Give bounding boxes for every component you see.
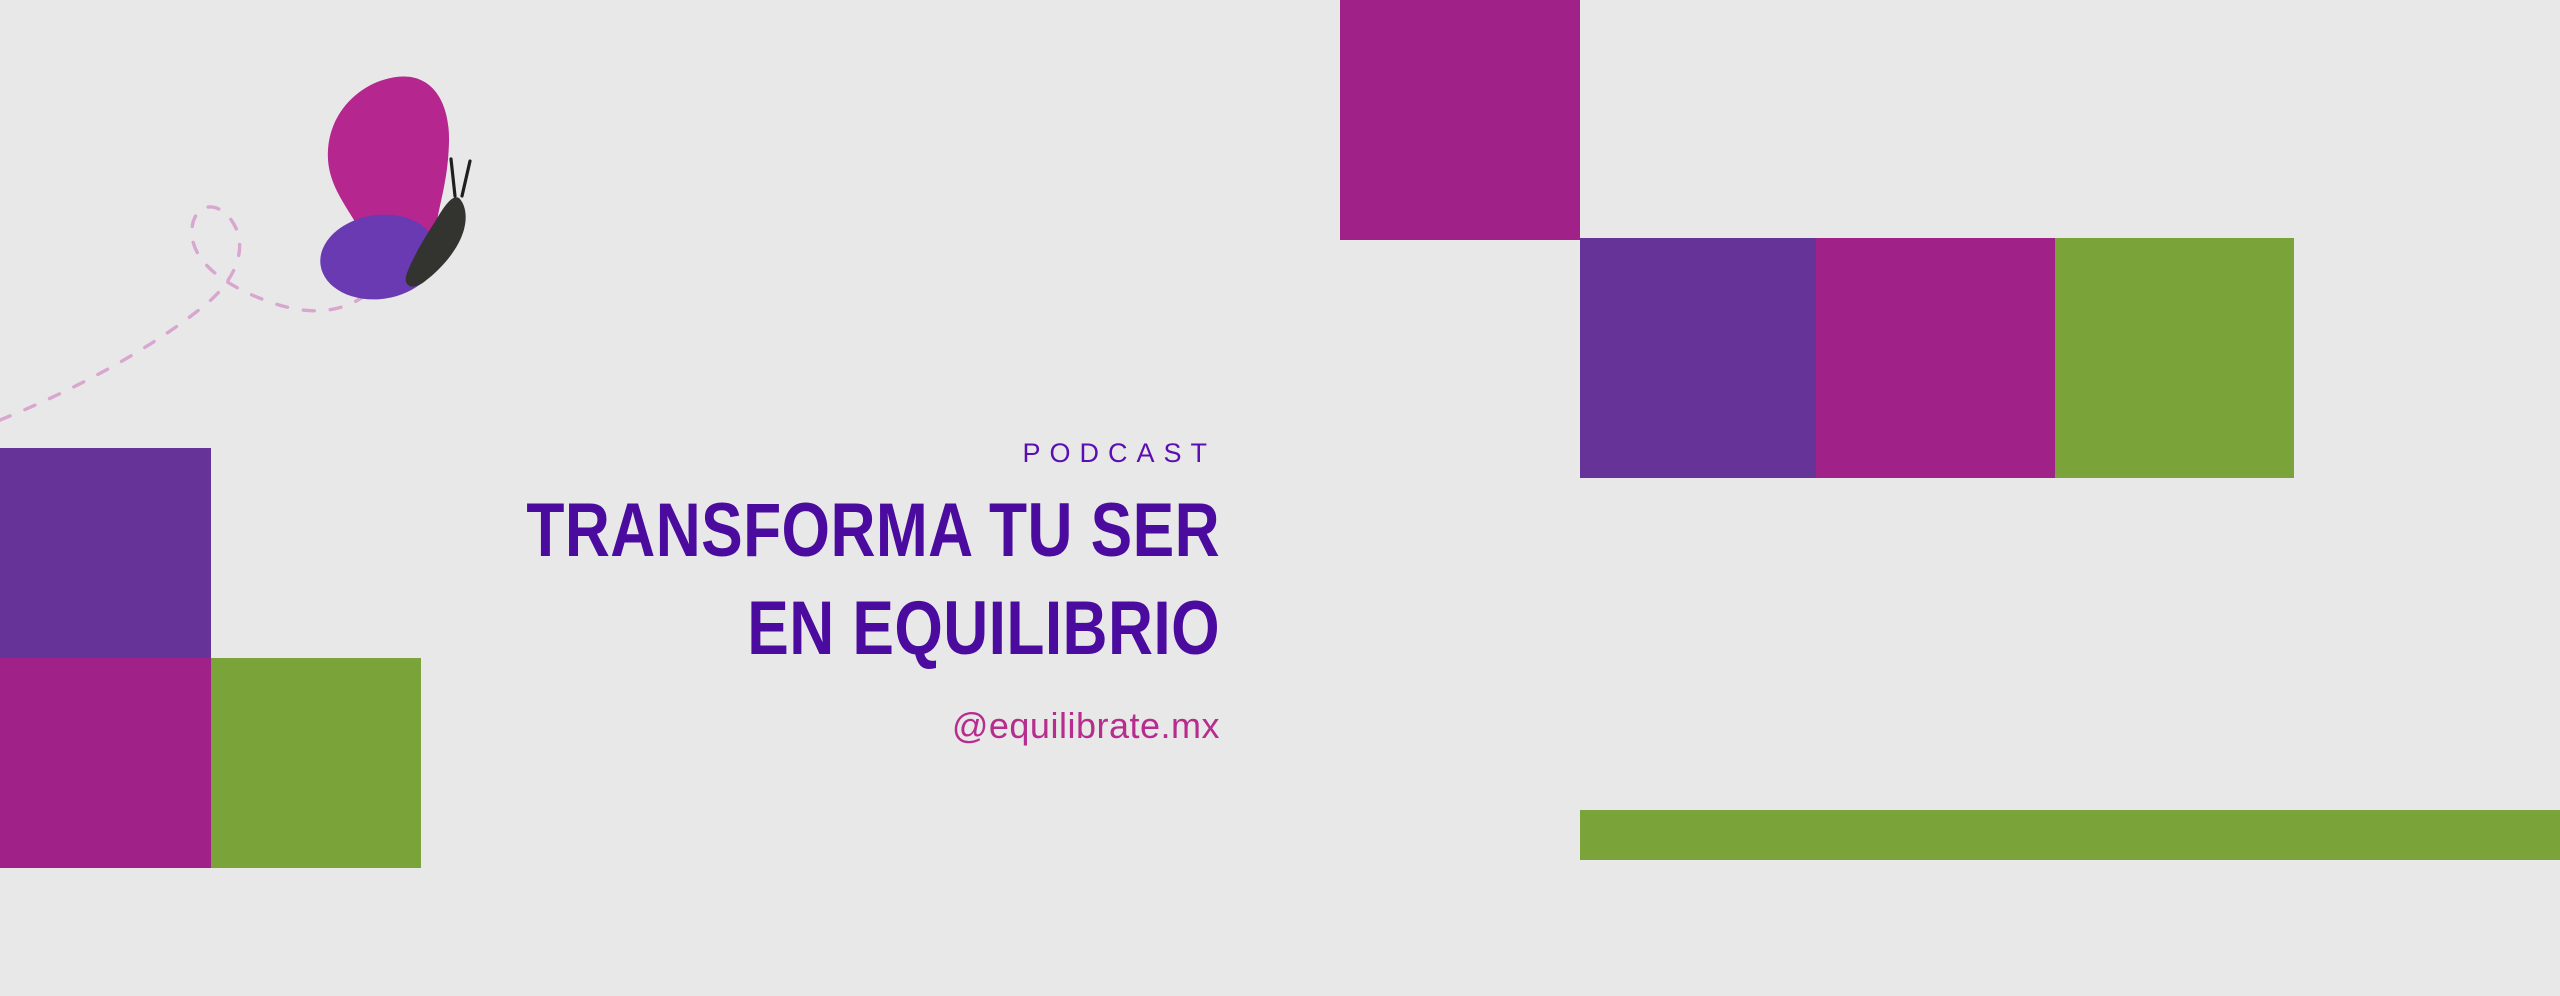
decor-block-row-green: [2055, 238, 2294, 478]
decor-block-top-magenta: [1340, 0, 1580, 240]
headline-line-1: TRANSFORMA TU SER: [490, 493, 1220, 569]
butterfly-logo: [0, 20, 520, 440]
decor-block-row-purple: [1580, 238, 1816, 478]
decor-block-row-magenta: [1816, 238, 2055, 478]
decor-block-left-magenta: [0, 658, 211, 868]
banner-text-column: PODCAST TRANSFORMA TU SER EN EQUILIBRIO …: [330, 440, 1220, 747]
page-title: TRANSFORMA TU SER EN EQUILIBRIO: [490, 493, 1220, 667]
dashed-flight-path-icon: [0, 207, 385, 420]
podcast-banner: PODCAST TRANSFORMA TU SER EN EQUILIBRIO …: [0, 0, 2560, 996]
decor-block-left-purple: [0, 448, 211, 658]
headline-line-2: EN EQUILIBRIO: [490, 591, 1220, 667]
eyebrow-label: PODCAST: [330, 440, 1220, 467]
butterfly-antenna-right-icon: [462, 161, 470, 196]
decor-block-bottom-bar: [1580, 810, 2560, 860]
social-handle: @equilibrate.mx: [330, 705, 1220, 747]
butterfly-antenna-left-icon: [451, 159, 455, 196]
